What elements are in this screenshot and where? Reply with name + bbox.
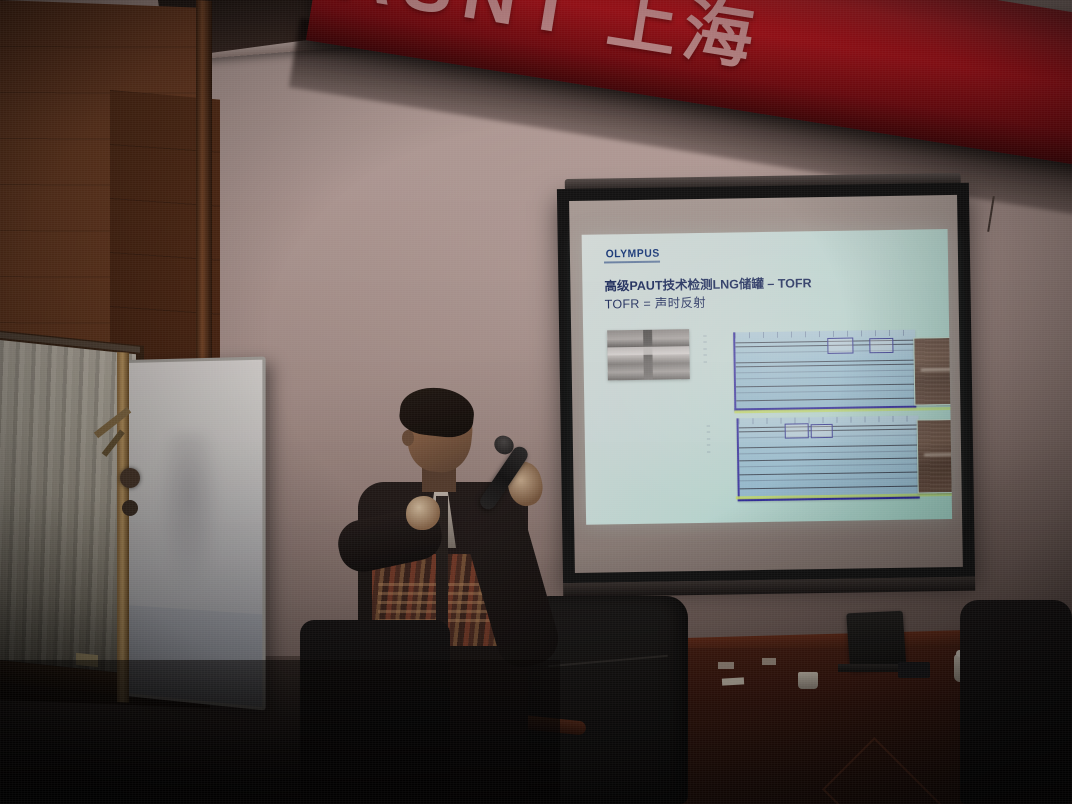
tofd-axis-bottom: —————	[707, 422, 734, 455]
tofd-axis-top: —————	[703, 332, 730, 365]
whiteboard-post	[117, 352, 129, 703]
indication-box-3	[785, 423, 809, 438]
laptop	[846, 611, 906, 671]
speaker-left-hand	[406, 496, 440, 530]
photo-highlight-band	[607, 346, 689, 355]
olympus-logo: OLYMPUS	[606, 248, 660, 261]
audio-device	[898, 662, 930, 678]
desk-nameplate-1	[718, 662, 734, 669]
presentation-photo-scene: ASNT上海 OLYMPUS 高级PAUT技术检测LNG储罐 – TOFR TO…	[0, 0, 1072, 804]
indication-box-1	[827, 338, 853, 354]
bscan-strip-top	[913, 337, 952, 406]
window-curtain	[0, 340, 136, 674]
projected-slide: OLYMPUS 高级PAUT技术检测LNG储罐 – TOFR TOFR = 声时…	[582, 229, 953, 525]
tofd-dscan-top	[733, 330, 916, 412]
bscan-flaw-top	[921, 368, 952, 372]
desk-nameplate-2	[762, 658, 776, 665]
slide-weld-photo	[607, 329, 690, 380]
bscan-flaw-bottom	[924, 453, 952, 457]
whiteboard-clamp	[120, 468, 140, 488]
speaker-ear	[402, 430, 414, 446]
projection-screen: OLYMPUS 高级PAUT技术检测LNG储罐 – TOFR TOFR = 声时…	[543, 183, 979, 590]
slide-title: 高级PAUT技术检测LNG储罐 – TOFR TOFR = 声时反射	[604, 273, 935, 314]
bscan-strip-bottom	[917, 419, 953, 494]
side-chair-right	[960, 600, 1072, 804]
tea-cup	[798, 672, 818, 689]
whiteboard	[126, 356, 266, 710]
paper-note	[722, 677, 744, 685]
olympus-logo-underline	[604, 261, 660, 264]
indication-box-4	[811, 424, 833, 438]
indication-box-2	[869, 338, 893, 353]
tofd-dscan-bottom	[737, 416, 920, 502]
whiteboard-smudge	[159, 433, 220, 589]
whiteboard-knob	[122, 500, 138, 516]
foreground-shadow	[0, 660, 560, 804]
